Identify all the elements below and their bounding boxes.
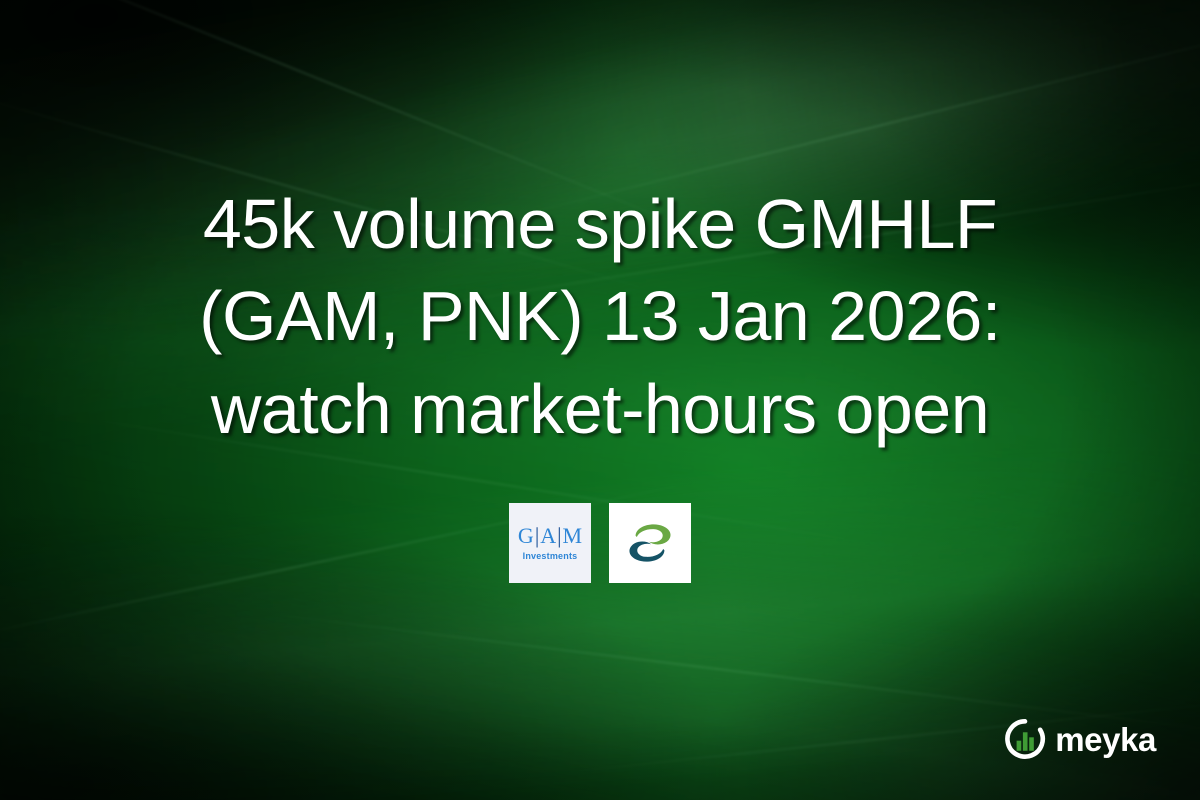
poster-content: 45k volume spike GMHLF (GAM, PNK) 13 Jan… — [0, 0, 1200, 800]
gam-subtitle: Investments — [518, 552, 582, 561]
gam-investments-logo: G|A|M Investments — [518, 525, 582, 561]
gam-letter-a: A — [540, 523, 556, 548]
meyka-ring-bars-icon — [1004, 718, 1046, 760]
gam-letter-g: G — [518, 523, 534, 548]
logo-row: G|A|M Investments — [0, 503, 1200, 583]
gam-letter-m: M — [563, 523, 583, 548]
swirl-logo-icon — [620, 513, 680, 573]
poster-canvas: 45k volume spike GMHLF (GAM, PNK) 13 Jan… — [0, 0, 1200, 800]
gam-wordmark: G|A|M — [518, 525, 582, 547]
headline-title: 45k volume spike GMHLF (GAM, PNK) 13 Jan… — [0, 178, 1200, 455]
swirl-logo-card — [609, 503, 691, 583]
gam-investments-logo-card: G|A|M Investments — [509, 503, 591, 583]
meyka-wordmark: meyka — [1055, 723, 1156, 756]
meyka-brand: meyka — [1004, 718, 1156, 760]
